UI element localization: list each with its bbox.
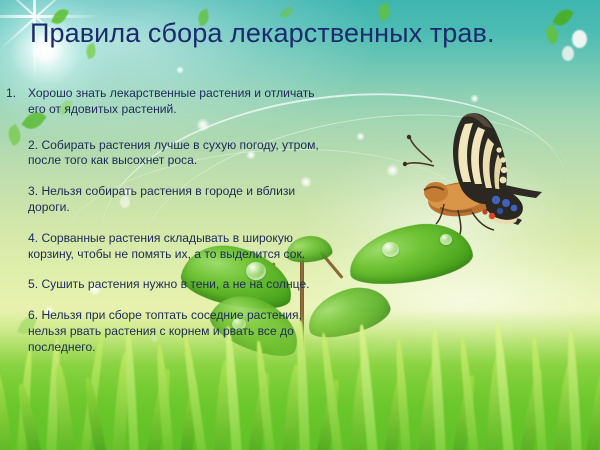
page-title: Правила сбора лекарственных трав. (30, 18, 570, 49)
list-item-line: 2. Собирать растения лучше в сухую погод… (28, 138, 410, 154)
list-item-line: 6. Нельзя при сборе топтать соседние рас… (28, 308, 410, 324)
list-item: 5. Сушить растения нужно в тени, а не на… (28, 277, 410, 293)
list-item-line: последнего. (28, 340, 410, 356)
slide-canvas: Правила сбора лекарственных трав. 1. Хор… (0, 0, 600, 450)
butterfly-icon (400, 104, 560, 249)
rules-list: 1. Хорошо знать лекарственные растения и… (6, 86, 410, 356)
white-petal-icon (572, 30, 587, 48)
list-item-line: 4. Сорванные растения складывать в широк… (28, 231, 410, 247)
list-item: 2. Собирать растения лучше в сухую погод… (28, 138, 410, 170)
sparkle-dot (176, 66, 184, 74)
list-item-line: его от ядовитых растений. (28, 102, 410, 118)
list-item-line: 5. Сушить растения нужно в тени, а не на… (28, 277, 410, 293)
list-item: 4. Сорванные растения складывать в широк… (28, 231, 410, 263)
sparkle-dot (470, 94, 479, 103)
list-item-line: 3. Нельзя собирать растения в городе и в… (28, 184, 410, 200)
list-item-line: нельзя рвать растения с корнем и рвать в… (28, 324, 410, 340)
list-item: 1. Хорошо знать лекарственные растения и… (6, 86, 410, 118)
list-item-text: Хорошо знать лекарственные растения и от… (28, 86, 410, 118)
list-item-marker: 1. (6, 86, 28, 118)
list-item-line: Хорошо знать лекарственные растения и от… (28, 86, 410, 102)
list-item-line: корзину, чтобы не помять их, а то выдели… (28, 247, 410, 263)
list-item: 3. Нельзя собирать растения в городе и в… (28, 184, 410, 216)
list-item: 6. Нельзя при сборе топтать соседние рас… (28, 308, 410, 355)
list-item-line: дороги. (28, 200, 410, 216)
list-item-line: после того как высохнет роса. (28, 153, 410, 169)
